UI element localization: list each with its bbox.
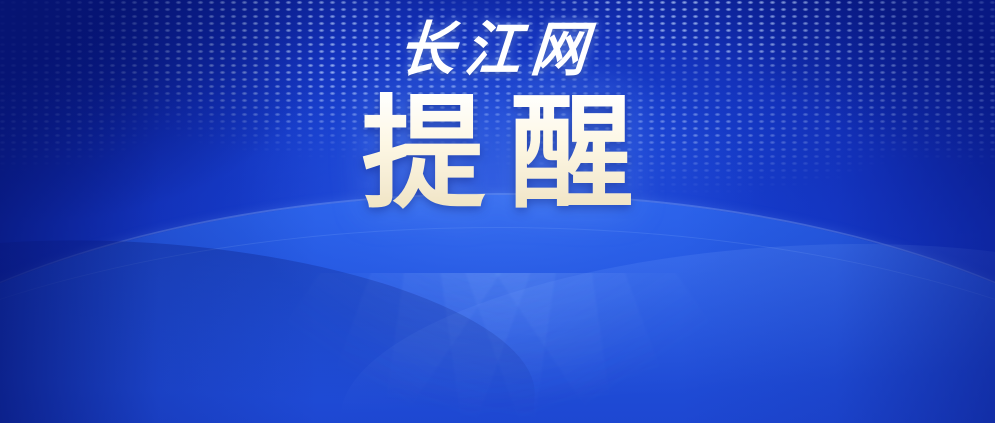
banner-content: 长江网 提醒 bbox=[0, 0, 995, 423]
brand-logo-text: 长江网 bbox=[396, 20, 599, 79]
reminder-banner: 长江网 提醒 bbox=[0, 0, 995, 423]
headline-text: 提醒 bbox=[337, 92, 657, 216]
